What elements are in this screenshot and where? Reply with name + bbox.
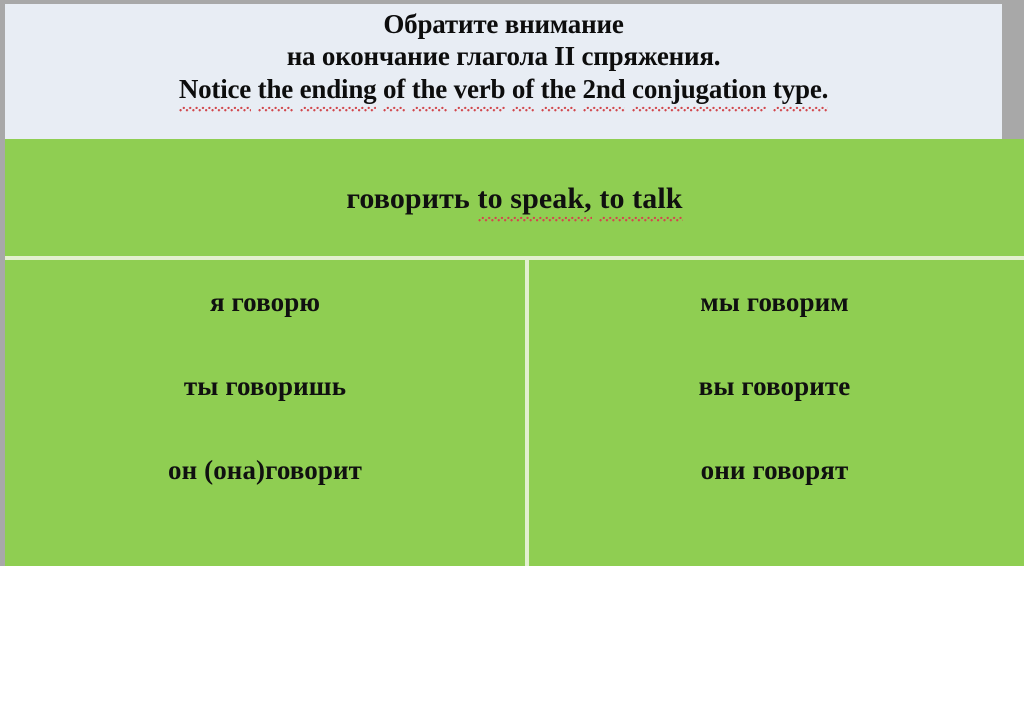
notice-word: verb — [454, 74, 506, 112]
notice-line-1: Обратите внимание — [383, 9, 623, 41]
verb-infinitive: говорить — [346, 182, 470, 215]
conjugation-3sg: он (она)говорит — [168, 455, 362, 486]
conjugation-1sg: я говорю — [210, 287, 320, 318]
notice-word: 2nd — [583, 74, 626, 112]
slide-canvas: Обратите внимание на окончание глагола I… — [0, 0, 1024, 566]
space — [470, 182, 478, 215]
singular-column: я говорю ты говоришь он (она)говорит — [5, 260, 525, 705]
table-row: ты говоришь — [5, 344, 525, 428]
notice-line-2: на окончание глагола II спряжения. — [287, 41, 721, 73]
notice-word: conjugation — [632, 74, 766, 112]
notice-word: the — [258, 74, 293, 112]
notice-panel: Обратите внимание на окончание глагола I… — [5, 4, 1002, 139]
verb-title: говорить to speak, to talk — [346, 182, 682, 216]
table-row: вы говорите — [525, 344, 1024, 428]
conjugation-1pl: мы говорим — [700, 287, 849, 318]
notice-line-3: Notice the ending of the verb of the 2nd… — [179, 74, 828, 106]
conjugation-table: говорить to speak, to talk я говорю ты г… — [5, 139, 1024, 566]
verb-translation-2: to talk — [599, 182, 682, 222]
space — [592, 182, 600, 215]
plural-column: мы говорим вы говорите они говорят — [525, 260, 1024, 705]
table-row: мы говорим — [525, 260, 1024, 344]
notice-word: of — [512, 74, 534, 112]
notice-word: of — [383, 74, 405, 112]
conjugation-2pl: вы говорите — [699, 371, 851, 402]
notice-word: Notice — [179, 74, 251, 112]
table-row: он (она)говорит — [5, 428, 525, 512]
notice-word: the — [412, 74, 447, 112]
verb-translation-1: to speak, — [478, 182, 592, 222]
verb-title-row: говорить to speak, to talk — [5, 139, 1024, 258]
notice-word: the — [541, 74, 576, 112]
notice-word: ending — [300, 74, 377, 112]
conjugation-3pl: они говорят — [701, 455, 849, 486]
table-row: я говорю — [5, 260, 525, 344]
table-row: они говорят — [525, 428, 1024, 512]
notice-word: type. — [773, 74, 828, 112]
frame-border-right — [1002, 0, 1024, 141]
conjugation-grid: я говорю ты говоришь он (она)говорит мы … — [5, 260, 1024, 705]
conjugation-2sg: ты говоришь — [184, 371, 346, 402]
